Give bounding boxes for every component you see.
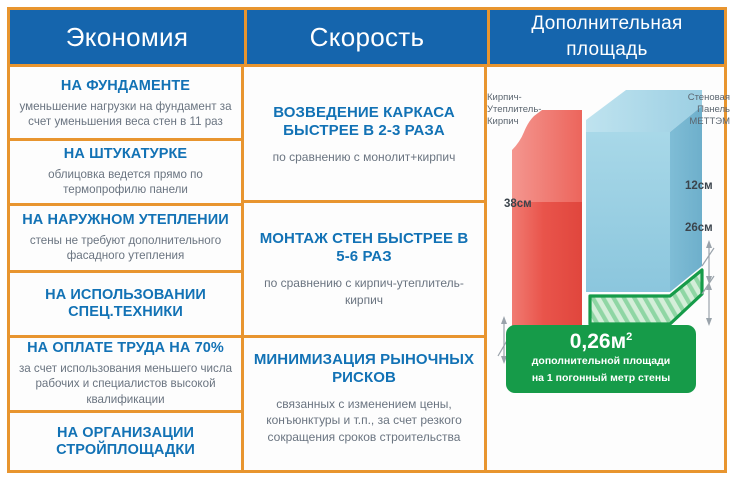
panel-wall-label: Стеновая Панель МЕТТЭМ	[670, 92, 730, 128]
economy-row-1: НА ШТУКАТУРКЕ облицовка ведется прямо по…	[10, 141, 241, 203]
callout-line-2: дополнительной площади	[516, 355, 686, 369]
dim-12-leader-top	[702, 248, 714, 266]
economy-row-1-subtitle: облицовка ведется прямо по термопрофилю …	[18, 167, 233, 198]
speed-row-0-subtitle: по сравнению с монолит+кирпич	[273, 149, 456, 165]
economy-row-3-title: НА ИСПОЛЬЗОВАНИИ СПЕЦ.ТЕХНИКИ	[18, 287, 233, 322]
callout-value-superscript: 2	[626, 331, 632, 343]
economy-row-4-title: НА ОПЛАТЕ ТРУДА НА 70%	[27, 340, 224, 357]
header-extra-area-label: Дополнительная площадь	[490, 11, 724, 62]
infographic-sheet: Экономия Скорость Дополнительная площадь…	[0, 0, 735, 481]
wall-comparison-illustration	[490, 70, 727, 470]
dimension-12: 12см	[685, 180, 713, 192]
economy-row-3: НА ИСПОЛЬЗОВАНИИ СПЕЦ.ТЕХНИКИ	[10, 273, 241, 335]
callout-value-number: 0,26м	[570, 330, 626, 353]
brick-wall-front-face	[512, 202, 582, 332]
extra-area-callout: 0,26м2 дополнительной площади на 1 погон…	[506, 325, 696, 393]
economy-row-0: НА ФУНДАМЕНТЕ уменьшение нагрузки на фун…	[10, 70, 241, 138]
economy-row-5: НА ОРГАНИЗАЦИИ СТРОЙПЛОЩАДКИ	[10, 413, 241, 471]
economy-row-4: НА ОПЛАТЕ ТРУДА НА 70% за счет использов…	[10, 338, 241, 410]
economy-row-0-title: НА ФУНДАМЕНТЕ	[61, 78, 190, 95]
economy-row-0-subtitle: уменьшение нагрузки на фундамент за счет…	[18, 99, 233, 130]
extra-area-diagram: Кирпич-Утеплитель-Кирпич Стеновая Панель…	[490, 70, 727, 470]
speed-row-2-title: МИНИМИЗАЦИЯ РЫНОЧНЫХ РИСКОВ	[252, 351, 476, 387]
speed-row-1-title: МОНТАЖ СТЕН БЫСТРЕЕ В 5-6 РАЗ	[252, 230, 476, 266]
speed-row-0-title: ВОЗВЕДЕНИЕ КАРКАСА БЫСТРЕЕ В 2-3 РАЗА	[252, 104, 476, 140]
header-speed-label: Скорость	[310, 23, 425, 52]
dimension-38: 38см	[504, 198, 532, 210]
dim-26-arrowhead-bottom	[706, 318, 712, 326]
speed-row-1-subtitle: по сравнению с кирпич-утеплитель-кирпич	[252, 275, 476, 307]
dim-12-arrowhead-top	[706, 240, 712, 248]
callout-line-3: на 1 погонный метр стены	[516, 372, 686, 386]
economy-row-2-subtitle: стены не требуют дополнительного фасадно…	[18, 233, 233, 264]
header-band: Экономия Скорость Дополнительная площадь	[7, 7, 727, 67]
header-economy-label: Экономия	[66, 23, 189, 52]
economy-row-4-subtitle: за счет использования меньшего числа раб…	[18, 361, 233, 408]
economy-row-5-title: НА ОРГАНИЗАЦИИ СТРОЙПЛОЩАДКИ	[18, 425, 233, 460]
panel-wall-side-face	[670, 106, 702, 292]
brick-wall-label: Кирпич-Утеплитель-Кирпич	[487, 92, 549, 128]
header-speed: Скорость	[247, 10, 487, 64]
economy-row-2: НА НАРУЖНОМ УТЕПЛЕНИИ стены не требуют д…	[10, 206, 241, 270]
speed-row-1: МОНТАЖ СТЕН БЫСТРЕЕ В 5-6 РАЗ по сравнен…	[244, 203, 484, 335]
economy-row-2-title: НА НАРУЖНОМ УТЕПЛЕНИИ	[22, 212, 229, 229]
dim-38-arrowhead-top	[501, 316, 507, 324]
speed-row-2: МИНИМИЗАЦИЯ РЫНОЧНЫХ РИСКОВ связанных с …	[244, 338, 484, 458]
header-economy: Экономия	[10, 10, 244, 64]
speed-row-0: ВОЗВЕДЕНИЕ КАРКАСА БЫСТРЕЕ В 2-3 РАЗА по…	[244, 70, 484, 200]
panel-wall-front-face	[586, 132, 670, 292]
header-extra-area: Дополнительная площадь	[490, 10, 724, 64]
callout-value: 0,26м2	[516, 331, 686, 352]
speed-row-2-subtitle: связанных с изменением цены, конъюнктуры…	[252, 396, 476, 445]
economy-row-1-title: НА ШТУКАТУРКЕ	[64, 146, 187, 163]
dimension-26: 26см	[685, 222, 713, 234]
column-divider-2	[484, 67, 487, 473]
